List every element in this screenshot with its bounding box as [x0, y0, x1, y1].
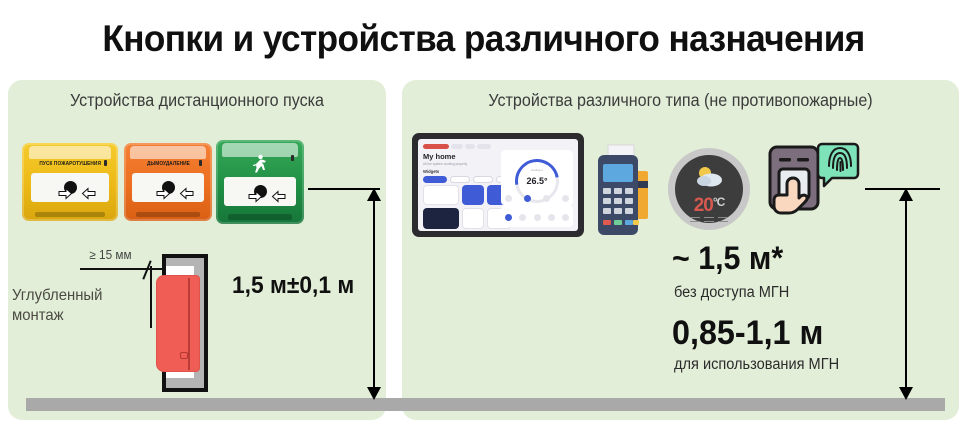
left-height-dimension-arrow	[366, 188, 382, 400]
tablet-climate-modes[interactable]	[505, 195, 569, 202]
call-point-slot	[136, 212, 199, 217]
recessed-device-edge	[188, 278, 190, 370]
tablet-mode-dot[interactable]	[543, 195, 550, 202]
floor-line-left	[26, 398, 390, 411]
smoke-removal-call-point[interactable]: ДЫМОУДАЛЕНИЕ	[124, 143, 212, 221]
fire-extinguishing-call-point[interactable]: ПУСК ПОЖАРОТУШЕНИЯ	[22, 143, 118, 221]
page-title: Кнопки и устройства различного назначени…	[24, 18, 943, 60]
right-height-dimension-arrow	[898, 188, 914, 400]
right-secondary-height-value: 0,85-1,1 м	[672, 314, 823, 353]
emergency-exit-call-point[interactable]	[216, 140, 304, 224]
tablet-media-bar[interactable]	[501, 205, 573, 227]
tablet-media-button[interactable]	[534, 214, 541, 221]
recess-reference-line	[150, 266, 152, 328]
tablet-mode-dot[interactable]	[505, 195, 512, 202]
tablet-media-button[interactable]	[562, 214, 569, 221]
running-man-exit-icon	[251, 154, 269, 174]
wall-thermostat[interactable]: 20°C	[668, 148, 750, 230]
call-point-led-icon	[291, 155, 294, 161]
tablet-pill[interactable]	[473, 176, 493, 183]
tablet-media-button[interactable]	[519, 214, 526, 221]
thermostat-bar	[704, 217, 714, 222]
tablet-widget-card-light2[interactable]	[462, 208, 484, 229]
thermostat-bar	[690, 217, 700, 222]
tablet-climate-widget[interactable]: Cooling to 26.5°	[501, 150, 573, 206]
tablet-widget-grid-2	[423, 208, 511, 229]
pos-payment-terminal[interactable]	[592, 145, 654, 237]
call-point-window	[224, 177, 296, 206]
call-point-slot	[228, 214, 291, 220]
smart-home-tablet[interactable]: My home All the system working properly …	[412, 133, 584, 237]
call-point-label: ПУСК ПОЖАРОТУШЕНИЯ	[29, 161, 110, 167]
tablet-widget-card-media[interactable]	[423, 208, 459, 229]
right-primary-height-note: без доступа МГН	[674, 284, 789, 302]
thermostat-level-bars	[675, 217, 743, 222]
thermostat-face: 20°C	[675, 155, 743, 223]
tablet-pill-active[interactable]	[423, 176, 447, 183]
tablet-mode-dot-active[interactable]	[524, 195, 531, 202]
call-point-window	[132, 173, 204, 202]
tablet-temperature-value: 26.5°	[501, 176, 573, 186]
left-mounting-height-value: 1,5 м±0,1 м	[232, 272, 354, 300]
tablet-widget-card[interactable]	[423, 185, 459, 205]
recessed-device-detail	[180, 352, 188, 359]
tablet-widget-card-light[interactable]	[462, 185, 484, 205]
sun-cloud-weather-icon	[693, 166, 725, 188]
thermostat-bar	[718, 217, 728, 222]
tablet-screen: My home All the system working properly …	[418, 139, 578, 231]
tablet-pill[interactable]	[450, 176, 470, 183]
recess-extension-line	[80, 268, 172, 270]
tablet-status-bar	[423, 143, 573, 149]
thermostat-unit: °C	[713, 195, 724, 209]
thermostat-temperature: 20°C	[675, 195, 743, 217]
call-point-lid	[29, 146, 112, 158]
tablet-media-button[interactable]	[548, 214, 555, 221]
right-primary-height-value: ~ 1,5 м*	[672, 240, 783, 277]
floor-line-right	[390, 398, 945, 411]
recess-dimension-label: ≥ 15 мм	[89, 248, 131, 262]
recess-caption: Углубленный монтаж	[12, 286, 142, 326]
tablet-mode-dot[interactable]	[562, 195, 569, 202]
right-secondary-height-note: для использования МГН	[674, 356, 839, 374]
right-panel-title: Устройства различного типа (не противопо…	[424, 90, 936, 111]
call-point-slot	[35, 212, 104, 217]
infographic-root: Кнопки и устройства различного назначени…	[0, 0, 967, 428]
recessed-device	[156, 275, 200, 372]
call-point-lid	[130, 146, 206, 158]
fingerprint-access-control[interactable]	[760, 142, 860, 242]
tablet-media-button[interactable]	[505, 214, 512, 221]
recessed-mounting-diagram: ≥ 15 мм Углубленный монтаж	[60, 248, 210, 393]
call-point-window	[31, 173, 110, 202]
tablet-media-controls[interactable]	[505, 214, 569, 221]
tablet-temperature-label: Cooling to	[501, 169, 573, 172]
left-panel-title: Устройства дистанционного пуска	[23, 90, 371, 111]
call-point-label: ДЫМОУДАЛЕНИЕ	[131, 161, 205, 167]
